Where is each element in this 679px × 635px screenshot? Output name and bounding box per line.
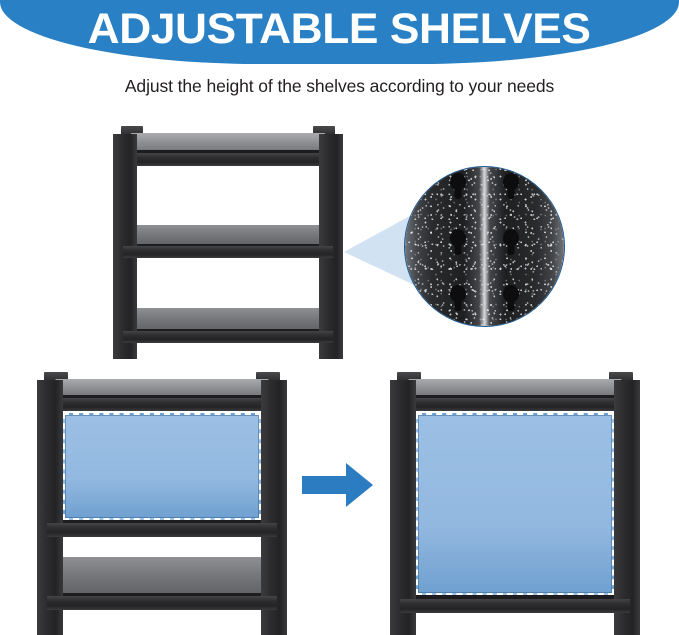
post-texture: [404, 166, 565, 327]
shelf-deck-lower: [63, 557, 261, 594]
shelf-rail-top: [123, 153, 333, 166]
keyhole-slot: [503, 229, 519, 246]
keyhole-slot: [450, 285, 466, 302]
infographic-canvas: ADJUSTABLE SHELVES Adjust the height of …: [0, 0, 679, 635]
magnifier-callout: [404, 166, 565, 327]
shelf-opening-lower: [137, 258, 319, 308]
subtitle-text: Adjust the height of the shelves accordi…: [0, 76, 679, 97]
hero-shelf-illustration: [113, 126, 343, 364]
comparison-right-shelf: [390, 372, 640, 635]
magnified-post-surface: [404, 166, 565, 327]
shelf-rail-top: [400, 398, 630, 411]
shelf-rail-middle: [47, 523, 277, 537]
keyhole-slot: [503, 173, 519, 190]
shelf-post-left: [390, 380, 416, 635]
shelf-deck-top: [402, 379, 628, 396]
shelf-foot-gap: [416, 613, 614, 635]
comparison-left-shelf: [37, 372, 287, 635]
header-banner: ADJUSTABLE SHELVES: [0, 0, 679, 64]
storage-space-highlight: [63, 413, 261, 520]
storage-space-highlight: [416, 413, 614, 595]
shelf-deck-middle: [137, 225, 319, 245]
shelf-deck-lower: [137, 308, 319, 330]
transition-arrow-icon: [302, 461, 374, 509]
keyhole-slot: [450, 229, 466, 246]
shelf-rail-lower: [123, 331, 333, 343]
shelf-foot-gap: [137, 343, 319, 359]
shelf-rail-lower: [400, 599, 630, 613]
shelf-opening-upper: [137, 166, 319, 225]
shelf-deck-top: [49, 379, 275, 396]
keyhole-slot: [503, 285, 519, 302]
shelf-rail-top: [47, 398, 277, 411]
shelf-rail-middle: [123, 246, 333, 258]
shelf-foot-gap: [63, 610, 261, 635]
page-title: ADJUSTABLE SHELVES: [88, 8, 591, 51]
shelf-deck-top: [125, 133, 331, 151]
shelf-rail-lower: [47, 596, 277, 610]
keyhole-slot: [450, 173, 466, 190]
shelf-post-right: [614, 380, 640, 635]
shelf-opening-lower: [63, 537, 261, 557]
